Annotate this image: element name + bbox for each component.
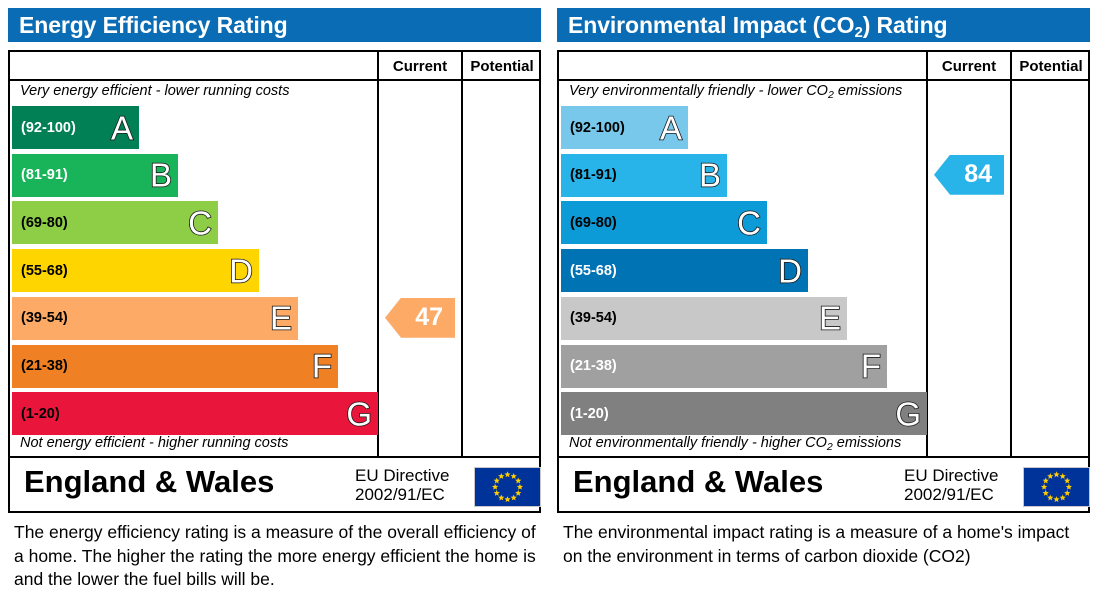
panel-description-energy-efficiency: The energy efficiency rating is a measur… <box>14 521 542 592</box>
column-header-current: Current <box>379 54 461 79</box>
rating-band-b: (81-91)B <box>561 154 727 197</box>
rating-bars-energy-efficiency: (92-100)A(81-91)B(69-80)C(55-68)D(39-54)… <box>12 106 377 436</box>
rating-table-energy-efficiency: CurrentPotentialVery energy efficient - … <box>8 50 541 513</box>
rating-band-f: (21-38)F <box>12 345 338 388</box>
caption-top: Very environmentally friendly - lower CO… <box>569 83 902 99</box>
eu-directive-label: EU Directive2002/91/EC <box>355 466 449 504</box>
band-letter-g: G <box>346 397 372 430</box>
rating-band-g: (1-20)G <box>561 392 927 435</box>
eu-flag-icon <box>1023 467 1090 507</box>
band-range-b: (81-91) <box>12 167 68 183</box>
rating-bars-environmental-impact: (92-100)A(81-91)B(69-80)C(55-68)D(39-54)… <box>561 106 926 436</box>
band-letter-d: D <box>778 254 802 287</box>
band-letter-e: E <box>270 302 292 335</box>
band-range-g: (1-20) <box>561 406 609 422</box>
rating-band-c: (69-80)C <box>12 201 218 244</box>
caption-top: Very energy efficient - lower running co… <box>20 83 289 99</box>
caption-bottom: Not energy efficient - higher running co… <box>20 435 288 451</box>
current-rating-arrow: 84 <box>934 155 1004 195</box>
band-range-e: (39-54) <box>561 310 617 326</box>
band-letter-g: G <box>895 397 921 430</box>
rating-table-environmental-impact: CurrentPotentialVery environmentally fri… <box>557 50 1090 513</box>
epc-panel-environmental-impact: Environmental Impact (CO2) RatingCurrent… <box>549 0 1098 613</box>
rating-band-e: (39-54)E <box>561 297 847 340</box>
eu-flag-icon <box>474 467 541 507</box>
band-letter-d: D <box>229 254 253 287</box>
band-letter-f: F <box>312 350 332 383</box>
rating-band-f: (21-38)F <box>561 345 887 388</box>
eu-directive-label: EU Directive2002/91/EC <box>904 466 998 504</box>
rating-band-g: (1-20)G <box>12 392 378 435</box>
band-range-f: (21-38) <box>12 358 68 374</box>
region-label: England & Wales <box>573 464 823 500</box>
column-header-potential: Potential <box>463 54 541 79</box>
rating-band-c: (69-80)C <box>561 201 767 244</box>
column-header-current: Current <box>928 54 1010 79</box>
rating-band-a: (92-100)A <box>561 106 688 149</box>
band-range-d: (55-68) <box>12 263 68 279</box>
rating-band-e: (39-54)E <box>12 297 298 340</box>
rating-band-a: (92-100)A <box>12 106 139 149</box>
band-letter-c: C <box>737 206 761 239</box>
table-rule-top <box>559 79 1088 81</box>
epc-chart-page: Energy Efficiency RatingCurrentPotential… <box>0 0 1098 613</box>
panel-title-environmental-impact: Environmental Impact (CO2) Rating <box>557 8 1090 42</box>
rating-band-d: (55-68)D <box>561 249 808 292</box>
caption-bottom: Not environmentally friendly - higher CO… <box>569 435 901 451</box>
column-header-potential: Potential <box>1012 54 1090 79</box>
band-range-g: (1-20) <box>12 406 60 422</box>
panel-description-environmental-impact: The environmental impact rating is a mea… <box>563 521 1091 568</box>
band-letter-f: F <box>861 350 881 383</box>
band-range-d: (55-68) <box>561 263 617 279</box>
table-rule-top <box>10 79 539 81</box>
band-letter-a: A <box>111 111 133 144</box>
column-divider-potential <box>1010 52 1012 456</box>
footer-row-energy-efficiency: England & WalesEU Directive2002/91/EC <box>10 458 539 513</box>
band-range-e: (39-54) <box>12 310 68 326</box>
region-label: England & Wales <box>24 464 274 500</box>
band-range-a: (92-100) <box>12 120 76 136</box>
band-range-c: (69-80) <box>12 215 68 231</box>
band-letter-b: B <box>699 159 721 192</box>
epc-panel-energy-efficiency: Energy Efficiency RatingCurrentPotential… <box>0 0 549 613</box>
column-divider-potential <box>461 52 463 456</box>
band-letter-b: B <box>150 159 172 192</box>
band-range-b: (81-91) <box>561 167 617 183</box>
footer-row-environmental-impact: England & WalesEU Directive2002/91/EC <box>559 458 1088 513</box>
band-range-f: (21-38) <box>561 358 617 374</box>
band-letter-a: A <box>660 111 682 144</box>
band-range-a: (92-100) <box>561 120 625 136</box>
rating-band-b: (81-91)B <box>12 154 178 197</box>
band-letter-c: C <box>188 206 212 239</box>
band-letter-e: E <box>819 302 841 335</box>
band-range-c: (69-80) <box>561 215 617 231</box>
panel-title-energy-efficiency: Energy Efficiency Rating <box>8 8 541 42</box>
rating-band-d: (55-68)D <box>12 249 259 292</box>
current-rating-arrow: 47 <box>385 298 455 338</box>
